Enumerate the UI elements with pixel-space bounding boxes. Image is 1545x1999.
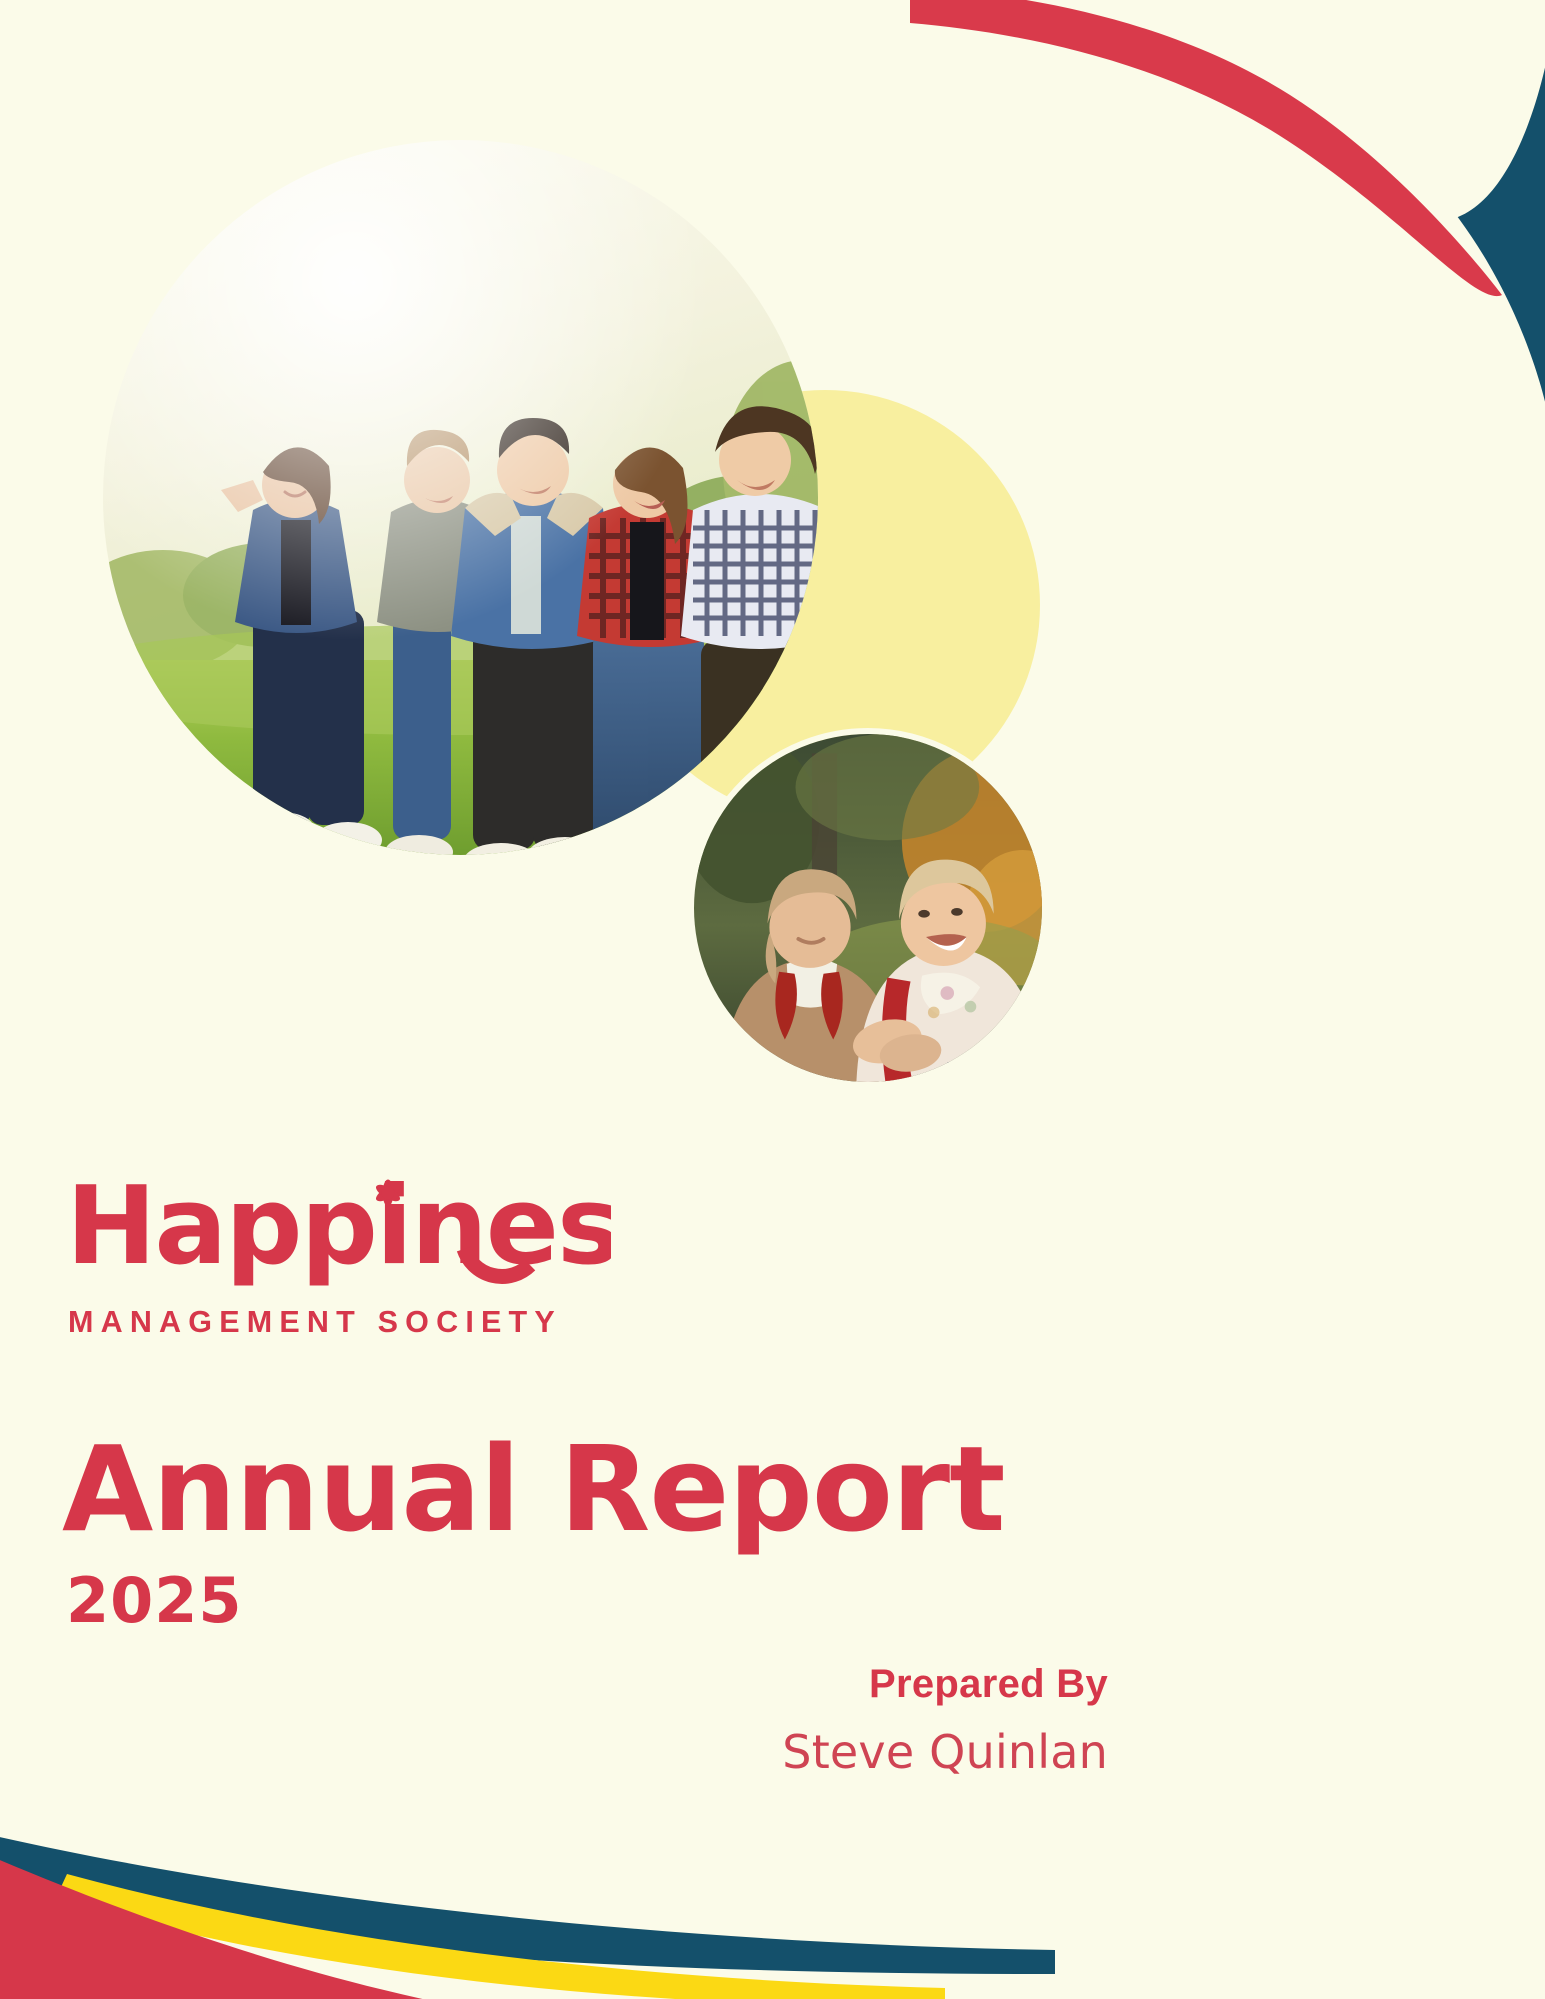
brand-logo: Happiness MANAGEMENT SOCIETY (66, 1175, 626, 1340)
logo-wordmark: Happiness (66, 1175, 611, 1291)
navy-swoosh-shape (1030, 0, 1545, 425)
navy-bottom-swoosh (0, 1836, 1055, 1974)
prepared-by-name: Steve Quinlan (608, 1725, 1108, 1779)
bottom-left-swoosh-decoration (0, 1774, 1195, 1999)
red-bottom-wedge (0, 1858, 465, 1999)
prepared-by-block: Prepared By Steve Quinlan (608, 1662, 1108, 1779)
annual-report-cover-page: Happiness MANAGEMENT SOCIETY Annual Repo… (0, 0, 1545, 1999)
red-swoosh-shape (910, 0, 1502, 296)
yellow-bottom-swoosh (55, 1874, 945, 1999)
top-right-swoosh-decoration (910, 0, 1545, 425)
seniors-photo-circle (688, 728, 1048, 1088)
group-photo-circle (103, 140, 818, 855)
page-title: Annual Report (62, 1430, 1005, 1548)
report-year: 2025 (66, 1570, 243, 1632)
cream-gap-shape (958, 0, 1545, 221)
prepared-by-label: Prepared By (608, 1662, 1108, 1707)
logo-tagline: MANAGEMENT SOCIETY (68, 1305, 626, 1340)
